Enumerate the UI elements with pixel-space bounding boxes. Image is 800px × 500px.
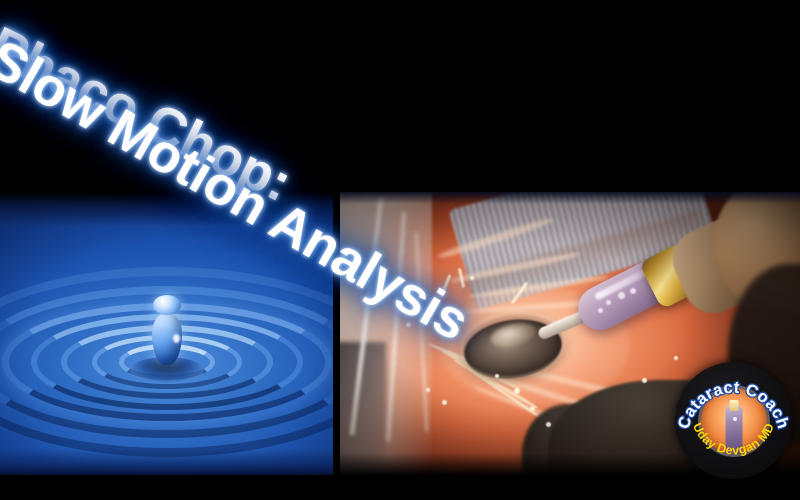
logo-top-textpath: Cataract Coach xyxy=(675,379,793,432)
logo-text-svg: Cataract Coach Uday Devgan MD xyxy=(675,362,792,479)
cataract-coach-logo[interactable]: Cataract Coach Uday Devgan MD xyxy=(675,362,792,479)
logo-bottom-text: Uday Devgan MD xyxy=(690,421,777,458)
title-line-1: Phaco Chop: xyxy=(3,17,82,58)
logo-top-text: Cataract Coach xyxy=(675,379,793,432)
water-droplet-panel xyxy=(0,192,333,475)
water-top-fade xyxy=(0,192,333,226)
logo-bottom-textpath: Uday Devgan MD xyxy=(690,421,777,458)
title-line-2: Slow Motion Analysis xyxy=(5,30,90,81)
water-bottom-fade xyxy=(0,449,333,475)
water-vignette xyxy=(0,192,333,475)
video-thumbnail: Phaco Chop: Slow Motion Analysis xyxy=(0,0,800,500)
surgery-top-fade xyxy=(340,192,800,204)
title-block: Phaco Chop: Slow Motion Analysis xyxy=(0,36,800,58)
